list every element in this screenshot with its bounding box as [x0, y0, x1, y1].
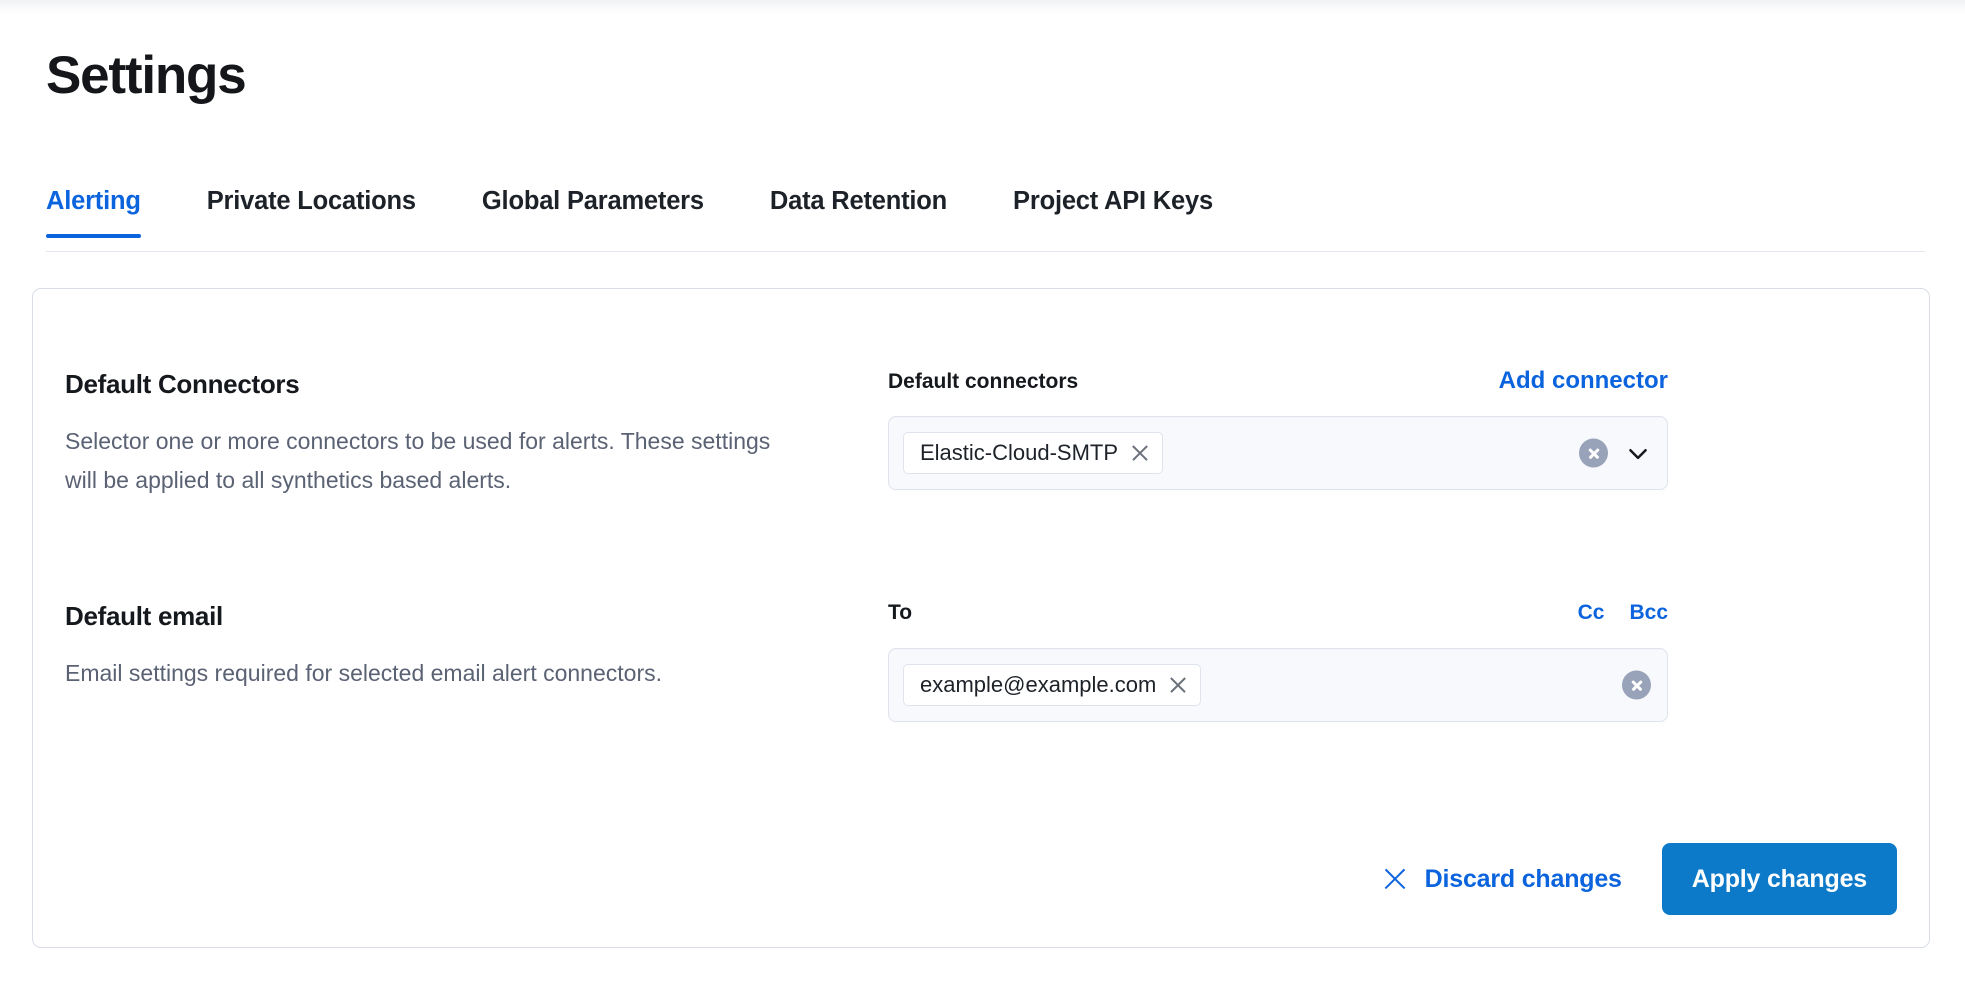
tab-alerting[interactable]: Alerting — [46, 186, 141, 237]
default-connectors-field-label: Default connectors — [888, 370, 1078, 394]
page-title: Settings — [46, 45, 245, 107]
close-icon — [1384, 868, 1407, 891]
remove-email-token-icon[interactable] — [1168, 676, 1187, 695]
clear-email-icon[interactable] — [1622, 671, 1651, 700]
default-email-description-column: Default email Email settings required fo… — [33, 601, 888, 722]
settings-tab-bar: Alerting Private Locations Global Parame… — [46, 186, 1925, 252]
connector-token[interactable]: Elastic-Cloud-SMTP — [903, 432, 1163, 474]
to-field-label: To — [888, 601, 912, 625]
tab-global-parameters[interactable]: Global Parameters — [482, 186, 704, 237]
card-footer-actions: Discard changes Apply changes — [1370, 843, 1897, 915]
top-gradient-strip — [0, 0, 1965, 14]
default-email-field-header: To Cc Bcc — [888, 601, 1668, 627]
discard-changes-button[interactable]: Discard changes — [1370, 855, 1636, 904]
to-email-combobox[interactable]: example@example.com — [888, 648, 1668, 722]
tab-global-parameters-label: Global Parameters — [482, 187, 704, 215]
bcc-link[interactable]: Bcc — [1629, 601, 1668, 625]
email-token-label: example@example.com — [920, 672, 1156, 698]
default-email-field-column: To Cc Bcc example@example.com — [888, 601, 1668, 722]
clear-connectors-icon[interactable] — [1579, 439, 1608, 468]
connector-token-label: Elastic-Cloud-SMTP — [920, 440, 1118, 466]
settings-page: Settings Alerting Private Locations Glob… — [0, 0, 1965, 989]
apply-changes-button[interactable]: Apply changes — [1662, 843, 1897, 915]
remove-connector-token-icon[interactable] — [1130, 444, 1149, 463]
chevron-down-icon[interactable] — [1625, 440, 1651, 466]
email-token[interactable]: example@example.com — [903, 664, 1201, 706]
cc-bcc-links: Cc Bcc — [1578, 601, 1668, 625]
default-connectors-title: Default Connectors — [65, 369, 888, 399]
add-connector-link[interactable]: Add connector — [1499, 369, 1668, 393]
tab-project-api-keys-label: Project API Keys — [1013, 187, 1213, 215]
default-connectors-combobox[interactable]: Elastic-Cloud-SMTP — [888, 416, 1668, 490]
tab-private-locations[interactable]: Private Locations — [207, 186, 416, 237]
default-connectors-row: Default Connectors Selector one or more … — [33, 369, 1929, 500]
alerting-settings-card: Default Connectors Selector one or more … — [32, 288, 1930, 948]
tab-data-retention-label: Data Retention — [770, 187, 947, 215]
default-email-title: Default email — [65, 601, 888, 631]
cc-link[interactable]: Cc — [1578, 601, 1605, 625]
default-connectors-combobox-actions — [1579, 439, 1651, 468]
default-email-row: Default email Email settings required fo… — [33, 601, 1929, 722]
tab-data-retention[interactable]: Data Retention — [770, 186, 947, 237]
discard-changes-label: Discard changes — [1425, 865, 1622, 894]
tab-project-api-keys[interactable]: Project API Keys — [1013, 186, 1213, 237]
default-connectors-description-column: Default Connectors Selector one or more … — [33, 369, 888, 500]
default-connectors-field-header: Default connectors Add connector — [888, 369, 1668, 395]
tab-private-locations-label: Private Locations — [207, 187, 416, 215]
to-email-combobox-actions — [1622, 671, 1651, 700]
tab-alerting-label: Alerting — [46, 187, 141, 215]
default-connectors-field-column: Default connectors Add connector Elastic… — [888, 369, 1668, 500]
default-email-description: Email settings required for selected ema… — [65, 654, 805, 693]
default-connectors-description: Selector one or more connectors to be us… — [65, 422, 805, 500]
